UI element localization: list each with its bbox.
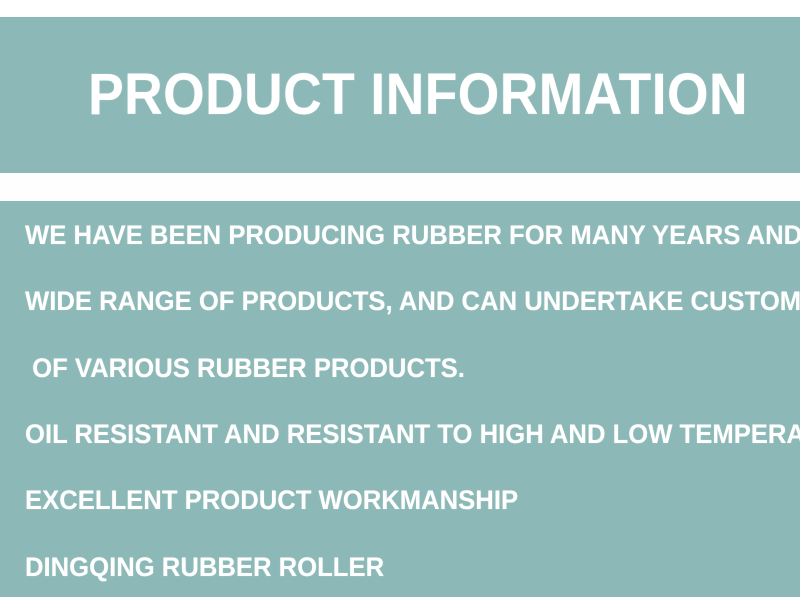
product-information-page: PRODUCT INFORMATION WE HAVE BEEN PRODUCI… xyxy=(0,0,800,597)
description-line: DINGQING RUBBER ROLLER xyxy=(25,550,761,584)
description-line: WIDE RANGE OF PRODUCTS, AND CAN UNDERTAK… xyxy=(25,284,761,318)
description-line: EXCELLENT PRODUCT WORKMANSHIP xyxy=(25,483,761,517)
header-banner: PRODUCT INFORMATION xyxy=(0,17,800,173)
section-divider xyxy=(0,173,800,201)
description-panel: WE HAVE BEEN PRODUCING RUBBER FOR MANY Y… xyxy=(0,201,800,597)
description-line: OF VARIOUS RUBBER PRODUCTS. xyxy=(25,351,761,385)
page-title: PRODUCT INFORMATION xyxy=(52,66,749,124)
description-line: WE HAVE BEEN PRODUCING RUBBER FOR MANY Y… xyxy=(25,218,761,252)
description-line: OIL RESISTANT AND RESISTANT TO HIGH AND … xyxy=(25,417,761,451)
